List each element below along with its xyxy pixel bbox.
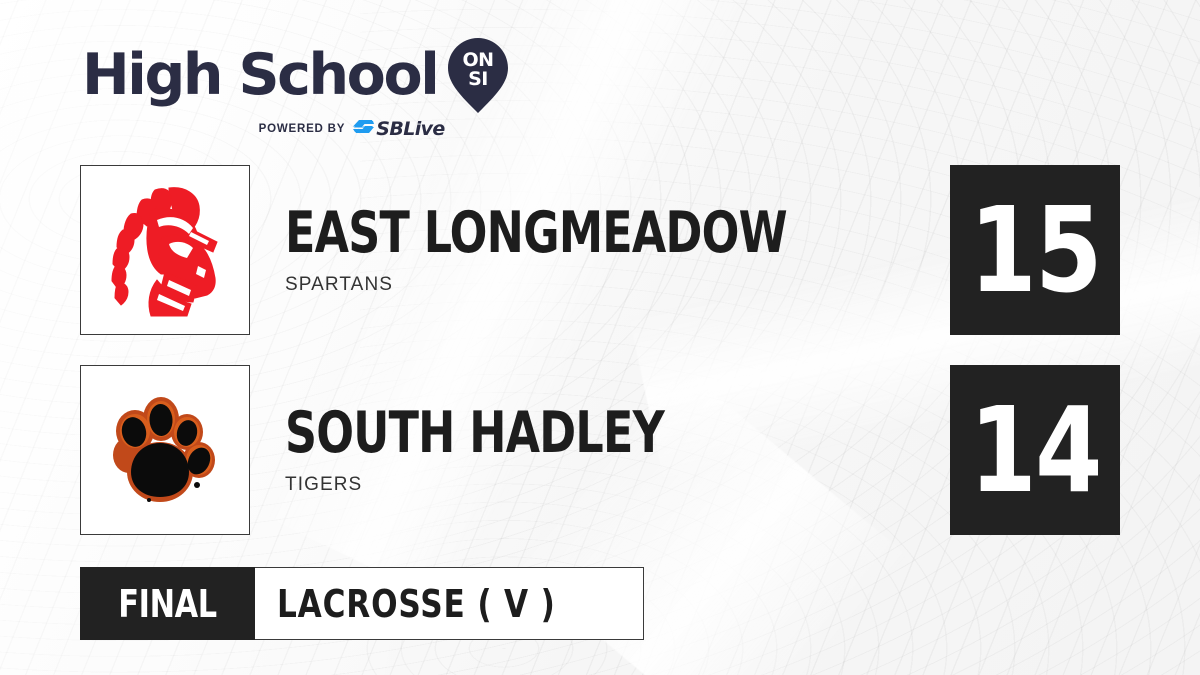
- team-logo-box: [80, 165, 250, 335]
- team-name: EAST LONGMEADOW: [285, 205, 787, 262]
- sblive-wordmark: SBLive: [376, 120, 444, 139]
- team-logo-box: [80, 365, 250, 535]
- team-text-block: SOUTH HADLEY TIGERS: [285, 405, 771, 496]
- status-label: FINAL: [118, 585, 216, 623]
- brand-wordmark: High School: [82, 49, 437, 101]
- sblive-bolt-icon: [352, 119, 374, 139]
- team-text-block: EAST LONGMEADOW SPARTANS: [285, 205, 928, 296]
- status-badge: FINAL: [80, 567, 255, 640]
- team-row: EAST LONGMEADOW SPARTANS: [80, 165, 928, 335]
- sport-label: LACROSSE ( V ): [277, 585, 556, 623]
- sport-label-box: LACROSSE ( V ): [255, 567, 644, 640]
- sblive-logo: SBLive: [352, 119, 444, 139]
- spartan-helmet-icon: [99, 180, 231, 320]
- game-status-bar: FINAL LACROSSE ( V ): [80, 567, 644, 640]
- team-mascot: TIGERS: [285, 474, 771, 496]
- on-si-pin-icon: ON SI: [447, 36, 509, 114]
- brand-lockup: High School ON SI POWERED BY SBLive: [82, 36, 509, 139]
- team-score-box: 14: [950, 365, 1120, 535]
- brand-primary-row: High School ON SI: [82, 36, 509, 114]
- team-mascot: SPARTANS: [285, 274, 928, 296]
- powered-by-label: POWERED BY: [259, 123, 346, 135]
- pin-text-si: SI: [468, 68, 488, 90]
- brand-powered-by-row: POWERED BY SBLive: [82, 119, 509, 139]
- team-score: 15: [969, 191, 1100, 309]
- team-row: SOUTH HADLEY TIGERS: [80, 365, 771, 535]
- team-score: 14: [969, 391, 1100, 509]
- tiger-paw-icon: [105, 387, 225, 513]
- team-score-box: 15: [950, 165, 1120, 335]
- scoreboard-graphic: High School ON SI POWERED BY SBLive: [0, 0, 1200, 675]
- team-name: SOUTH HADLEY: [285, 405, 664, 462]
